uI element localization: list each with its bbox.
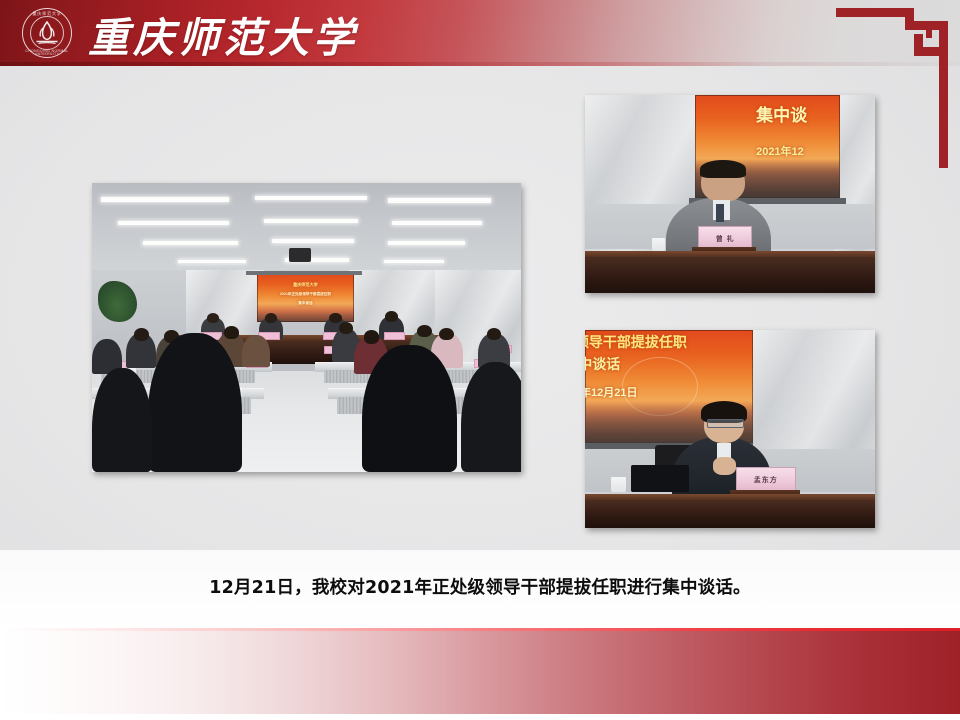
led-line-1: 领导干部提拔任职 bbox=[585, 333, 760, 352]
led-line-2: 2021年正处级领导干部提拔任职 bbox=[257, 292, 354, 297]
water-cup bbox=[611, 477, 626, 493]
attendee-head bbox=[339, 322, 353, 334]
attendee-head bbox=[439, 328, 454, 341]
attendee-head bbox=[224, 326, 239, 339]
led-line-1: 重庆师范大学 bbox=[257, 282, 354, 288]
slide-caption: 12月21日，我校对2021年正处级领导干部提拔任职进行集中谈话。 bbox=[0, 574, 960, 599]
led-line-1: 集中谈 bbox=[756, 105, 858, 128]
page-title: 重庆师范大学 bbox=[88, 6, 358, 62]
foreground-silhouette bbox=[92, 368, 152, 472]
panelist-head bbox=[329, 313, 341, 323]
photo-speaker-meng-dongfang: 领导干部提拔任职 中谈话 年12月21日 孟东方 bbox=[585, 330, 875, 528]
table-front bbox=[585, 257, 875, 293]
table-front bbox=[585, 500, 875, 528]
attendee-head bbox=[417, 325, 432, 338]
foreground-silhouette bbox=[148, 333, 242, 472]
water-cup bbox=[652, 238, 665, 252]
ceiling-light bbox=[101, 197, 230, 202]
panelist-nameplate bbox=[384, 332, 406, 340]
attendee bbox=[242, 335, 270, 367]
attendee-head bbox=[364, 330, 379, 343]
ceiling-light bbox=[255, 196, 367, 201]
slide-canvas: 重庆师范大学 CHONGQING NORMAL UNIVERSITY 重庆师范大… bbox=[0, 0, 960, 720]
ceiling-light bbox=[272, 239, 354, 243]
attendee-head bbox=[134, 328, 149, 341]
footer-edge bbox=[0, 714, 960, 720]
screen-frame bbox=[246, 271, 362, 274]
panelist-head bbox=[385, 311, 398, 322]
led-line-3: 集中谈话 bbox=[257, 301, 354, 306]
university-seal-icon: 重庆师范大学 CHONGQING NORMAL UNIVERSITY bbox=[22, 8, 74, 60]
ceiling-light bbox=[118, 221, 230, 225]
foreground-silhouette bbox=[362, 345, 456, 472]
attendee-head bbox=[487, 328, 502, 341]
ceiling-light bbox=[143, 241, 237, 245]
speaker-tie bbox=[716, 204, 725, 222]
ceiling-light bbox=[388, 241, 465, 245]
footer-gradient-band bbox=[0, 628, 960, 714]
eyeglasses-icon bbox=[707, 419, 744, 428]
speaker-hair bbox=[700, 160, 746, 178]
ceiling-light bbox=[392, 221, 482, 225]
speaker-hand bbox=[713, 457, 736, 475]
photo-speaker-zeng-li: 集中谈 2021年12 曾 礼 bbox=[585, 95, 875, 293]
microphone-base bbox=[631, 465, 689, 493]
foreground-silhouette bbox=[461, 362, 521, 472]
seal-flame-glyph bbox=[22, 8, 72, 58]
ceiling-light bbox=[178, 260, 247, 263]
footer-accent-line bbox=[0, 628, 960, 631]
ceiling-light bbox=[384, 260, 444, 263]
ceiling-light bbox=[388, 198, 491, 203]
ceiling-light bbox=[264, 219, 358, 223]
projector-icon bbox=[289, 248, 310, 262]
photo-conference-room: 重庆师范大学 2021年正处级领导干部提拔任职 集中谈话 bbox=[92, 183, 521, 472]
